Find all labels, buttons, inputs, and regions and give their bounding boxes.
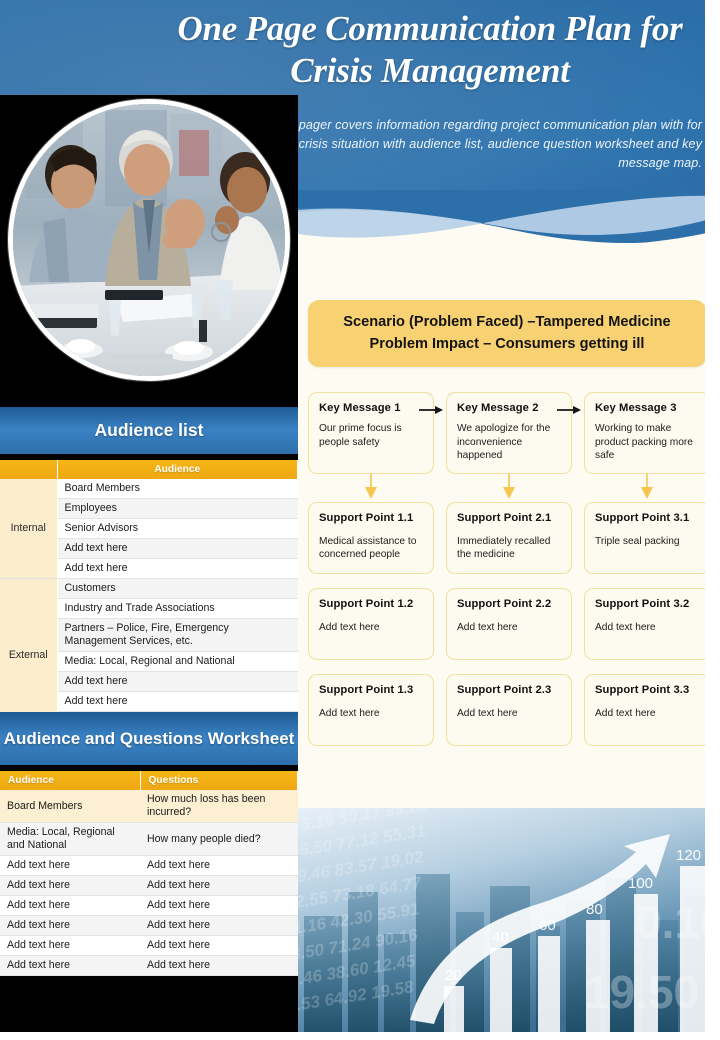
table-row: Add text here Add text here <box>0 896 298 916</box>
key-message-map: Key Message 1 Our prime focus is people … <box>308 392 710 746</box>
scenario-line1: Scenario (Problem Faced) –Tampered Medic… <box>318 311 696 333</box>
worksheet-audience-cell[interactable]: Add text here <box>0 936 140 956</box>
key-message-title: Key Message 1 <box>319 402 423 414</box>
support-point-body: Add text here <box>319 621 423 635</box>
audience-cell[interactable]: Employees <box>57 499 298 519</box>
down-arrow-row <box>308 474 710 500</box>
worksheet-audience-cell[interactable]: Add text here <box>0 956 140 976</box>
worksheet-question-cell[interactable]: How many people died? <box>140 823 298 856</box>
audience-list-banner-label: Audience list <box>95 420 204 441</box>
support-point-title: Support Point 1.2 <box>319 598 423 610</box>
worksheet-audience-cell[interactable]: Board Members <box>0 790 140 823</box>
key-message-card-3[interactable]: Key Message 3 Working to make product pa… <box>584 392 710 474</box>
worksheet-question-cell[interactable]: Add text here <box>140 876 298 896</box>
table-row: Media: Local, Regional and National How … <box>0 823 298 856</box>
page-title-line2: Crisis Management <box>150 50 710 92</box>
worksheet-audience-cell[interactable]: Add text here <box>0 916 140 936</box>
worksheet-question-cell[interactable]: Add text here <box>140 916 298 936</box>
support-point-body: Add text here <box>595 707 699 721</box>
table-header-row: Audience Questions <box>0 771 298 790</box>
support-point-card[interactable]: Support Point 3.2 Add text here <box>584 588 710 660</box>
worksheet-audience-cell[interactable]: Add text here <box>0 896 140 916</box>
worksheet-question-cell[interactable]: Add text here <box>140 936 298 956</box>
audience-cell[interactable]: Board Members <box>57 479 298 499</box>
worksheet-question-cell[interactable]: How much loss has been incurred? <box>140 790 298 823</box>
bar-label: 100 <box>628 875 653 892</box>
key-message-card-1[interactable]: Key Message 1 Our prime focus is people … <box>308 392 434 474</box>
table-row: Add text here Add text here <box>0 956 298 976</box>
audience-cell[interactable]: Add text here <box>57 692 298 712</box>
header-wave-decoration <box>298 190 720 260</box>
audience-cell[interactable]: Add text here <box>57 559 298 579</box>
support-point-card[interactable]: Support Point 2.1 Immediately recalled t… <box>446 502 572 574</box>
support-point-body: Add text here <box>457 621 561 635</box>
group-label-internal: Internal <box>0 479 57 579</box>
audience-cell[interactable]: Industry and Trade Associations <box>57 599 298 619</box>
support-point-body: Add text here <box>595 621 699 635</box>
key-message-body: We apologize for the inconvenience happe… <box>457 422 561 463</box>
bar-label: 120 <box>676 847 701 864</box>
one-pager-page: One Page Communication Plan for Crisis M… <box>0 0 720 1040</box>
support-point-title: Support Point 2.3 <box>457 684 561 696</box>
support-point-row-1: Support Point 1.1 Medical assistance to … <box>308 502 710 574</box>
left-column: Audience list Audience Internal Board Me… <box>0 95 298 1040</box>
support-point-title: Support Point 3.2 <box>595 598 699 610</box>
scenario-line2: Problem Impact – Consumers getting ill <box>318 333 696 355</box>
key-message-row: Key Message 1 Our prime focus is people … <box>308 392 710 474</box>
worksheet-audience-cell[interactable]: Add text here <box>0 876 140 896</box>
table-row: Internal Board Members <box>0 479 298 499</box>
support-point-card[interactable]: Support Point 1.2 Add text here <box>308 588 434 660</box>
worksheet-audience-cell[interactable]: Media: Local, Regional and National <box>0 823 140 856</box>
page-title-line1: One Page Communication Plan for <box>150 8 710 50</box>
group-label-external: External <box>0 579 57 732</box>
right-column: Scenario (Problem Faced) –Tampered Medic… <box>298 232 720 1040</box>
arrow-down-icon <box>502 474 516 500</box>
support-point-body: Immediately recalled the medicine <box>457 535 561 562</box>
support-point-body: Medical assistance to concerned people <box>319 535 423 562</box>
table-header-row: Audience <box>0 460 298 479</box>
audience-cell[interactable]: Senior Advisors <box>57 519 298 539</box>
table-row: Add text here Add text here <box>0 856 298 876</box>
support-point-body: Add text here <box>457 707 561 721</box>
arrow-right-icon <box>557 405 581 415</box>
support-point-title: Support Point 1.1 <box>319 512 423 524</box>
support-point-card[interactable]: Support Point 3.1 Triple seal packing <box>584 502 710 574</box>
support-point-card[interactable]: Support Point 1.3 Add text here <box>308 674 434 746</box>
table-row: Add text here Add text here <box>0 916 298 936</box>
support-point-card[interactable]: Support Point 3.3 Add text here <box>584 674 710 746</box>
support-point-row-2: Support Point 1.2 Add text here Support … <box>308 588 710 660</box>
scenario-box: Scenario (Problem Faced) –Tampered Medic… <box>308 300 706 367</box>
worksheet-banner: Audience and Questions Worksheet <box>0 712 298 765</box>
worksheet-question-cell[interactable]: Add text here <box>140 956 298 976</box>
audience-list-table: Audience Internal Board Members Employee… <box>0 460 298 732</box>
hero-photo <box>8 99 290 381</box>
table-row: External Customers <box>0 579 298 599</box>
page-subtitle: This one pager covers information regard… <box>240 116 702 173</box>
audience-cell[interactable]: Media: Local, Regional and National <box>57 652 298 672</box>
key-message-body: Our prime focus is people safety <box>319 422 423 449</box>
worksheet-question-cell[interactable]: Add text here <box>140 896 298 916</box>
key-message-body: Working to make product packing more saf… <box>595 422 699 463</box>
support-point-row-3: Support Point 1.3 Add text here Support … <box>308 674 710 746</box>
right-page-margin <box>705 0 720 1040</box>
audience-list-banner: Audience list <box>0 407 298 454</box>
support-point-card[interactable]: Support Point 2.3 Add text here <box>446 674 572 746</box>
key-message-card-2[interactable]: Key Message 2 We apologize for the incon… <box>446 392 572 474</box>
audience-col-header: Audience <box>57 460 298 479</box>
bottom-page-margin <box>0 1032 720 1040</box>
page-title: One Page Communication Plan for Crisis M… <box>150 8 710 92</box>
audience-group-col-header <box>0 460 57 479</box>
support-point-body: Add text here <box>319 707 423 721</box>
worksheet-question-cell[interactable]: Add text here <box>140 856 298 876</box>
support-point-title: Support Point 3.3 <box>595 684 699 696</box>
arrow-down-icon <box>640 474 654 500</box>
table-row: Add text here Add text here <box>0 936 298 956</box>
arrow-right-icon <box>419 405 443 415</box>
worksheet-audience-col-header: Audience <box>0 771 140 790</box>
arrow-down-icon <box>364 474 378 500</box>
table-row: Add text here Add text here <box>0 876 298 896</box>
support-point-card[interactable]: Support Point 1.1 Medical assistance to … <box>308 502 434 574</box>
audience-cell[interactable]: Add text here <box>57 539 298 559</box>
growth-chart-photo: 5.16 50.17 99.23 6.50 77.12 55.31 9.46 8… <box>298 808 720 1040</box>
worksheet-banner-label: Audience and Questions Worksheet <box>4 728 295 750</box>
support-point-title: Support Point 1.3 <box>319 684 423 696</box>
support-point-title: Support Point 3.1 <box>595 512 699 524</box>
audience-cell[interactable]: Partners – Police, Fire, Emergency Manag… <box>57 619 298 652</box>
support-point-card[interactable]: Support Point 2.2 Add text here <box>446 588 572 660</box>
key-message-title: Key Message 3 <box>595 402 699 414</box>
worksheet-questions-col-header: Questions <box>140 771 298 790</box>
audience-questions-worksheet-table: Audience Questions Board Members How muc… <box>0 771 298 976</box>
table-row: Board Members How much loss has been inc… <box>0 790 298 823</box>
support-point-body: Triple seal packing <box>595 535 699 549</box>
audience-cell[interactable]: Add text here <box>57 672 298 692</box>
support-point-title: Support Point 2.2 <box>457 598 561 610</box>
worksheet-audience-cell[interactable]: Add text here <box>0 856 140 876</box>
key-message-title: Key Message 2 <box>457 402 561 414</box>
support-point-title: Support Point 2.1 <box>457 512 561 524</box>
audience-cell[interactable]: Customers <box>57 579 298 599</box>
